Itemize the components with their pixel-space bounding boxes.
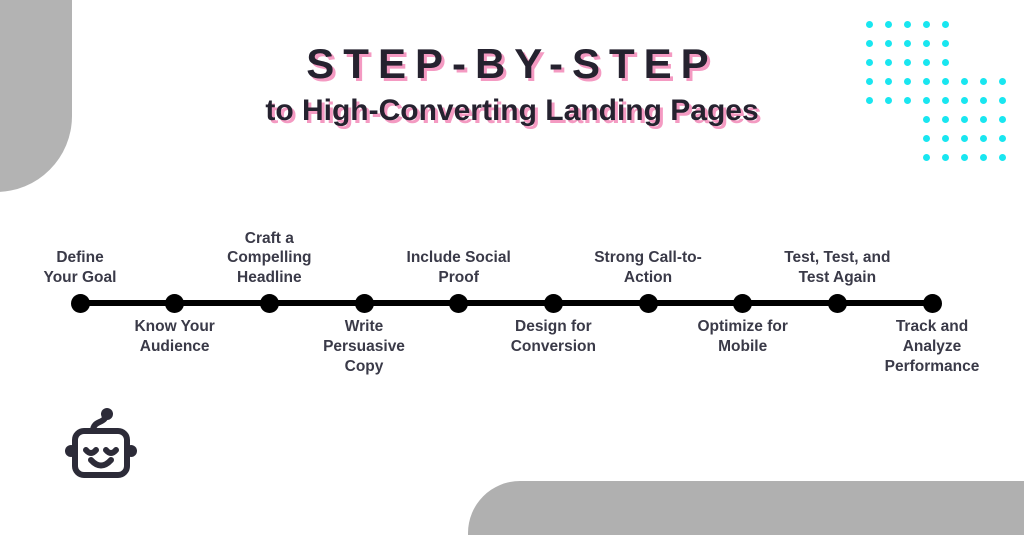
- timeline-node-5[interactable]: [449, 294, 468, 313]
- infographic-canvas: STEP-BY-STEP to High-Converting Landing …: [0, 0, 1024, 535]
- timeline-node-4[interactable]: [355, 294, 374, 313]
- timeline-step-label-1: DefineYour Goal: [0, 248, 165, 288]
- timeline-node-7[interactable]: [639, 294, 658, 313]
- timeline-step-label-8: Optimize forMobile: [658, 317, 828, 357]
- timeline-step-label-3: Craft aCompellingHeadline: [184, 229, 354, 288]
- timeline-step-label-2: Know YourAudience: [90, 317, 260, 357]
- timeline-node-9[interactable]: [828, 294, 847, 313]
- timeline-step-label-4: WritePersuasiveCopy: [279, 317, 449, 376]
- timeline-node-2[interactable]: [165, 294, 184, 313]
- timeline-node-10[interactable]: [923, 294, 942, 313]
- timeline-step-label-9: Test, Test, andTest Again: [752, 248, 922, 288]
- timeline-step-label-5: Include SocialProof: [374, 248, 544, 288]
- timeline: DefineYour GoalKnow YourAudienceCraft aC…: [0, 0, 1024, 535]
- timeline-step-label-6: Design forConversion: [468, 317, 638, 357]
- timeline-axis-line: [80, 300, 932, 306]
- timeline-step-label-10: Track andAnalyzePerformance: [847, 317, 1017, 376]
- timeline-node-1[interactable]: [71, 294, 90, 313]
- timeline-node-8[interactable]: [733, 294, 752, 313]
- timeline-node-3[interactable]: [260, 294, 279, 313]
- robot-face-icon: [58, 406, 144, 492]
- timeline-step-label-7: Strong Call-to-Action: [563, 248, 733, 288]
- timeline-node-6[interactable]: [544, 294, 563, 313]
